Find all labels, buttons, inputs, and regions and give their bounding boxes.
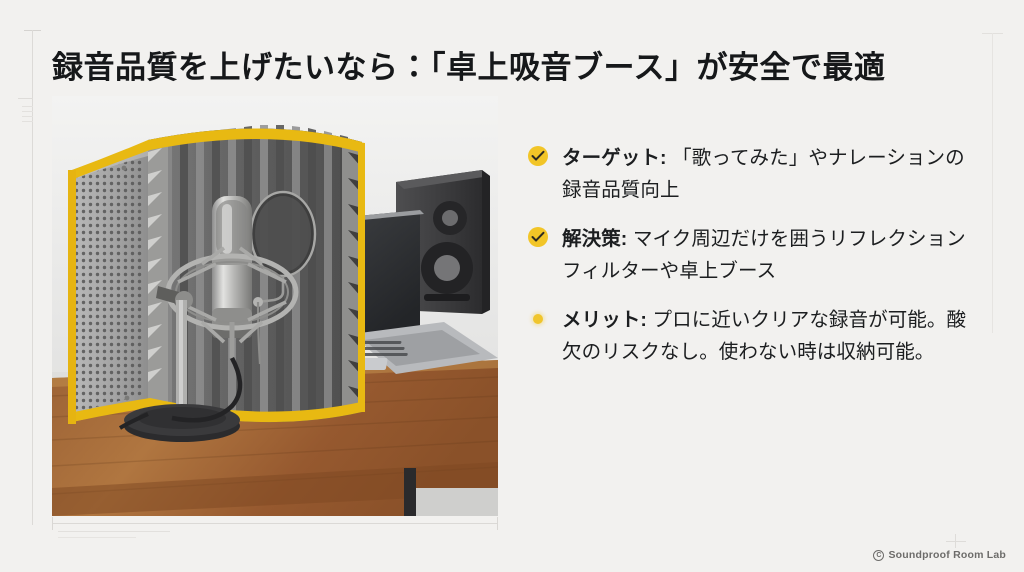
list-item-text: ターゲット: 「歌ってみた」やナレーションの録音品質向上: [562, 143, 980, 206]
list-item: ターゲット: 「歌ってみた」やナレーションの録音品質向上: [528, 143, 980, 206]
list-item-lead: メリット:: [562, 309, 647, 331]
corner-crop-mark-vertical: [955, 534, 956, 548]
left-rule-cap: [24, 30, 41, 31]
right-rule-cap: [982, 33, 1003, 34]
list-item: メリット: プロに近いクリアな録音が可能。酸欠のリスクなし。使わない時は収納可能…: [528, 305, 980, 368]
check-icon: [531, 150, 545, 162]
left-rule-tick-major: [18, 98, 33, 99]
list-item-lead: ターゲット:: [562, 147, 667, 169]
footer-credit: C Soundproof Room Lab: [873, 549, 1006, 561]
left-rule-tick-minor: [22, 121, 33, 122]
right-vertical-rule: [992, 33, 993, 333]
copyright-icon: C: [873, 550, 884, 561]
bottom-measure-cap-left: [52, 517, 53, 530]
bottom-measure-line: [52, 523, 498, 524]
list-item-text: 解決策: マイク周辺だけを囲うリフレクションフィルターや卓上ブース: [562, 224, 980, 287]
list-item-text: メリット: プロに近いクリアな録音が可能。酸欠のリスクなし。使わない時は収納可能…: [562, 305, 980, 368]
bullet-list: ターゲット: 「歌ってみた」やナレーションの録音品質向上 解決策: マイク周辺だ…: [528, 143, 980, 368]
left-rule-tick-minor: [22, 106, 33, 107]
list-item: 解決策: マイク周辺だけを囲うリフレクションフィルターや卓上ブース: [528, 224, 980, 287]
bottom-accent-line-1: [58, 531, 170, 532]
check-circle-icon: [528, 146, 550, 168]
check-icon: [531, 231, 545, 243]
corner-crop-mark-horizontal: [946, 541, 966, 542]
footer-credit-text: Soundproof Room Lab: [888, 549, 1006, 561]
check-circle-icon: [528, 227, 550, 249]
bottom-measure-cap-right: [497, 517, 498, 530]
slide-title: 録音品質を上げたいなら：「卓上吸音ブース」が安全で最適: [52, 49, 972, 88]
left-vertical-rule: [32, 30, 33, 525]
left-rule-tick-minor: [22, 111, 33, 112]
bullet-dot-icon: [528, 308, 550, 330]
slide-root: 録音品質を上げたいなら：「卓上吸音ブース」が安全で最適: [0, 0, 1024, 572]
list-item-lead: 解決策:: [562, 228, 627, 250]
product-photo-illustration: [52, 96, 498, 516]
left-rule-tick-minor: [22, 116, 33, 117]
bottom-accent-line-2: [58, 537, 136, 538]
product-photo: [52, 96, 498, 516]
